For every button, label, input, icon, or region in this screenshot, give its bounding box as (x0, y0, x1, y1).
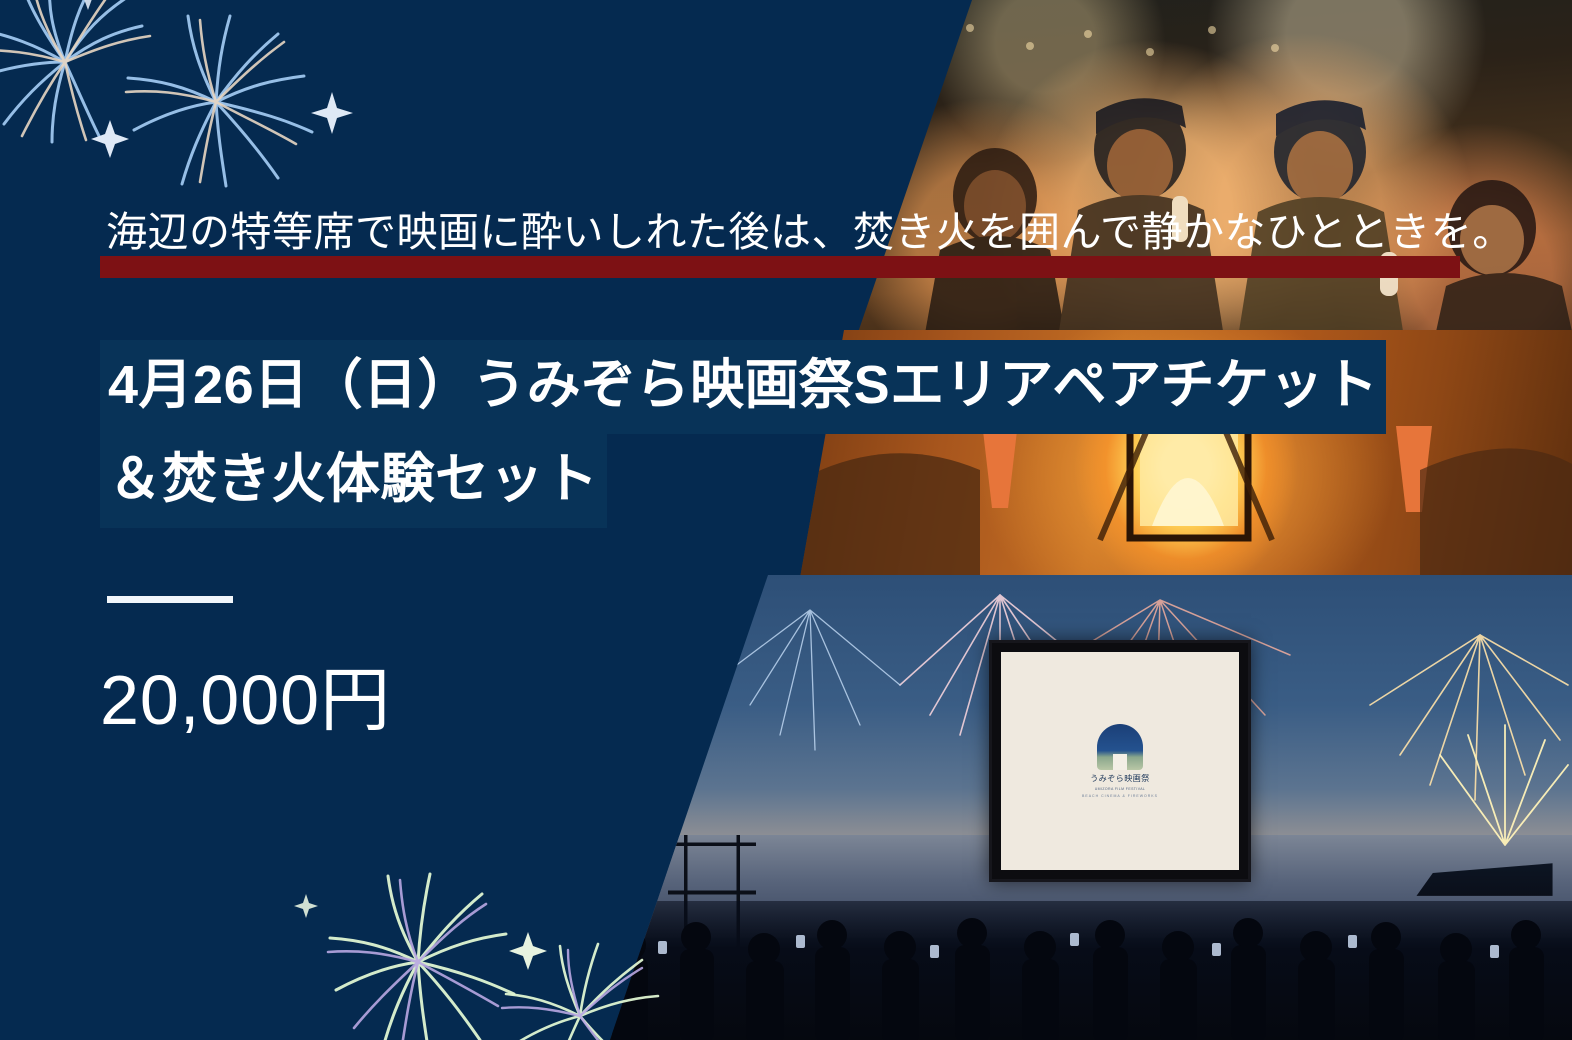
outdoor-cinema-screen: うみぞら映画祭 UMIZORA FILM FESTIVAL BEACH CINE… (989, 640, 1251, 882)
price-label: 20,000円 (100, 665, 391, 735)
promo-banner: うみぞら映画祭 UMIZORA FILM FESTIVAL BEACH CINE… (0, 0, 1572, 1040)
screen-surface: うみぞら映画祭 UMIZORA FILM FESTIVAL BEACH CINE… (1001, 652, 1239, 870)
tagline-block: 海辺の特等席で映画に酔いしれた後は、焚き火を囲んで静かなひとときを。 (100, 212, 1472, 286)
festival-guests-photo (820, 0, 1572, 350)
tagline-underline-bar (100, 256, 1460, 278)
festival-guests-photo-figures (820, 0, 1572, 350)
umizora-logo: うみぞら映画祭 UMIZORA FILM FESTIVAL BEACH CINE… (1082, 724, 1158, 798)
divider-rule (107, 596, 233, 603)
page-title-line2: ＆焚き火体験セット (100, 434, 607, 528)
beach-cinema-fireworks-photo: うみぞら映画祭 UMIZORA FILM FESTIVAL BEACH CINE… (600, 575, 1572, 1040)
logo-subtitle: UMIZORA FILM FESTIVAL (1095, 787, 1146, 791)
crowd-silhouettes (600, 901, 1572, 1040)
tagline-text: 海辺の特等席で映画に酔いしれた後は、焚き火を囲んで静かなひとときを。 (106, 212, 1514, 253)
audience-crowd (600, 901, 1572, 1040)
page-title-line1: 4月26日（日）うみぞら映画祭Sエリアペアチケット (100, 340, 1386, 434)
logo-title: うみぞら映画祭 (1090, 773, 1150, 784)
logo-ring-text: BEACH CINEMA & FIREWORKS (1082, 794, 1158, 798)
logo-dome-icon (1097, 724, 1143, 770)
page-title: 4月26日（日）うみぞら映画祭Sエリアペアチケット ＆焚き火体験セット (100, 340, 1540, 528)
